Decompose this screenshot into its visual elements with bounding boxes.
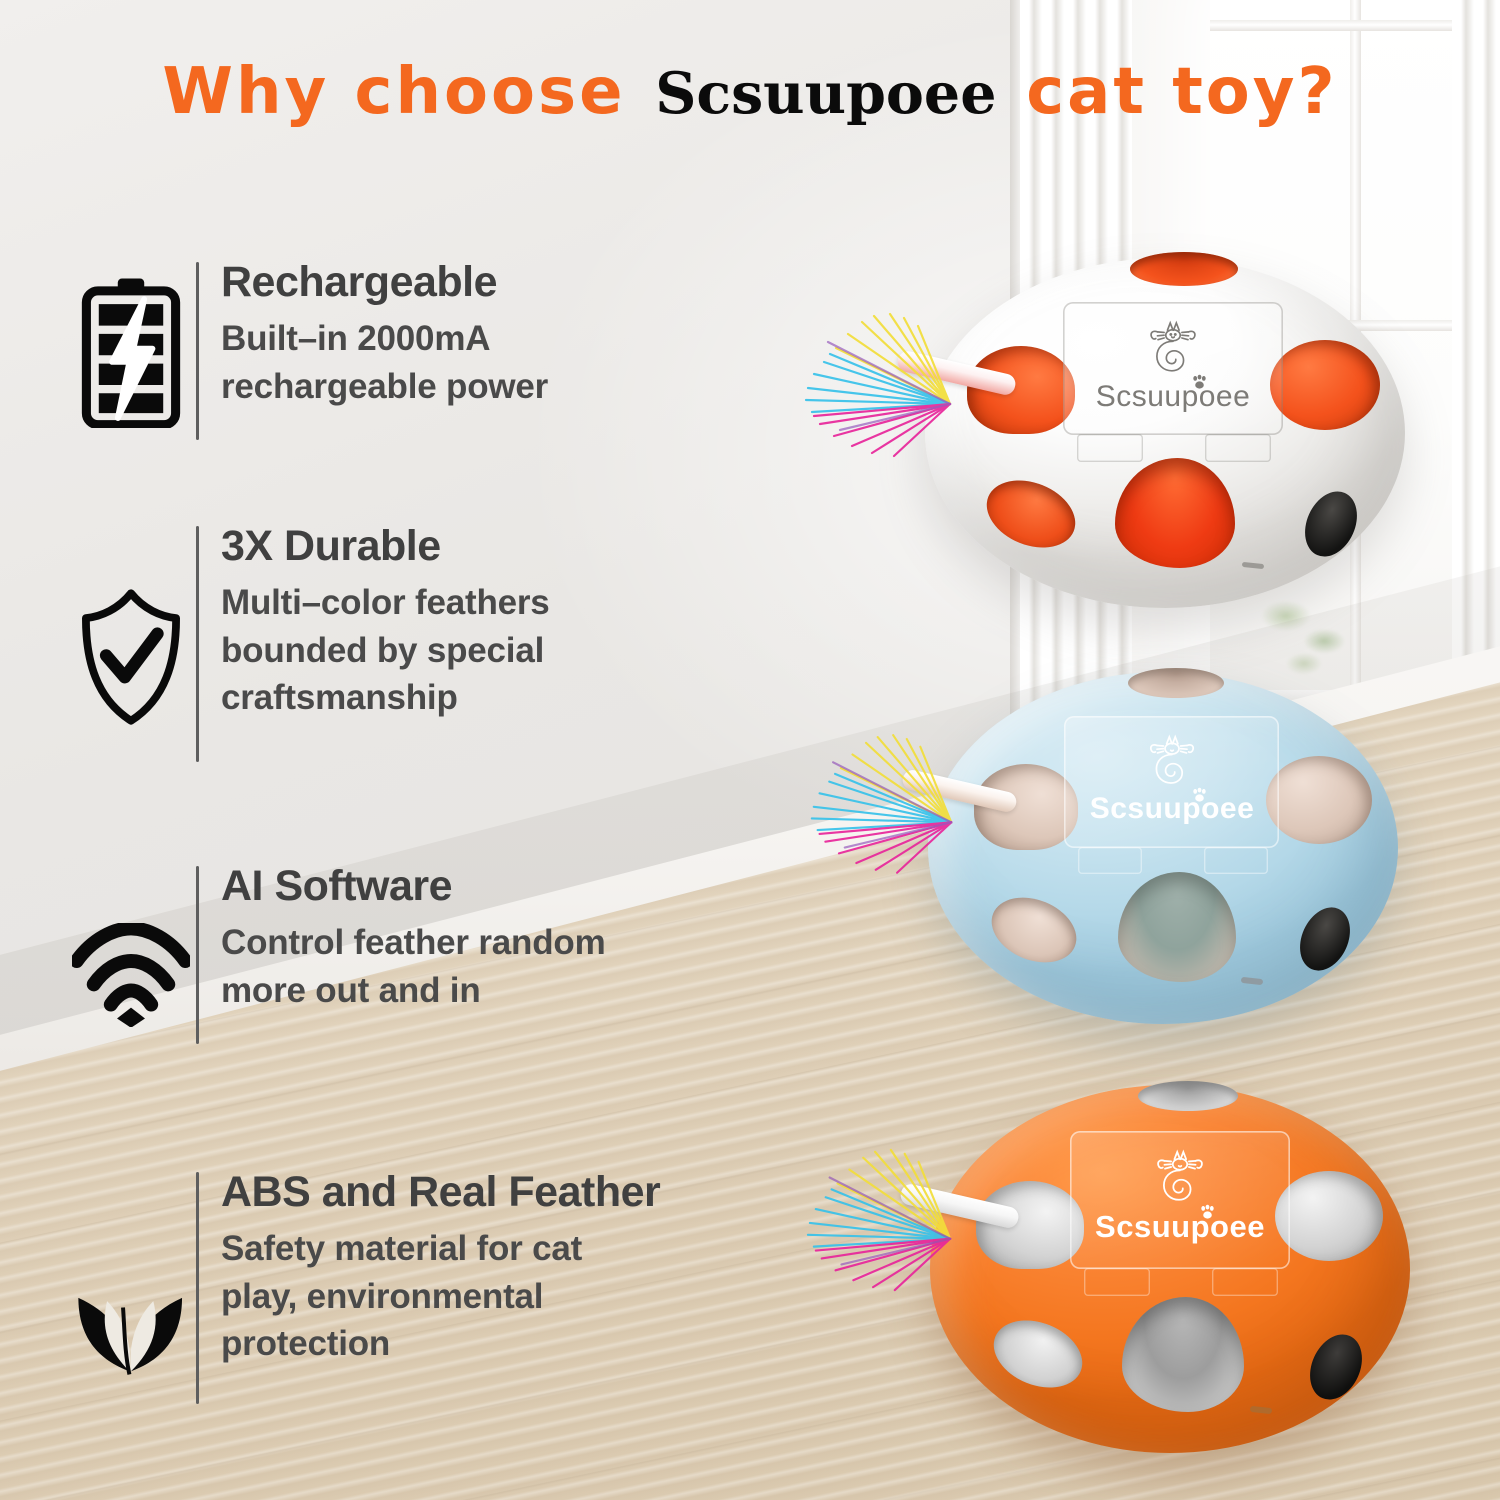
feature-desc-line: Built–in 2000mA xyxy=(221,315,548,362)
feature-description: Control feather random more out and in xyxy=(221,919,606,1014)
toy-hole-right xyxy=(1275,1171,1383,1261)
toy-top-panel xyxy=(1064,716,1279,848)
toy-hole-top xyxy=(1130,252,1238,286)
infographic-canvas: Why choose Scsuupoee cat toy? Rechargeab… xyxy=(0,0,1500,1500)
feature-heading: Rechargeable xyxy=(221,258,548,307)
feature-desc-line: play, environmental xyxy=(221,1273,660,1320)
feather-tuft xyxy=(806,728,961,876)
feature-desc-line: Multi–color feathers xyxy=(221,579,550,626)
feature-abs-real-feather: ABS and Real Feather Safety material for… xyxy=(72,1168,660,1404)
page-title: Why choose Scsuupoee cat toy? xyxy=(0,60,1500,124)
toy-panel-tab-left xyxy=(1077,434,1143,462)
feature-divider-rule xyxy=(196,1172,199,1404)
feature-heading: 3X Durable xyxy=(221,522,550,571)
title-part-two: cat toy? xyxy=(1026,55,1337,129)
feature-desc-line: Safety material for cat xyxy=(221,1225,660,1272)
feather-tuft xyxy=(802,1143,960,1293)
feature-description: Safety material for cat play, environmen… xyxy=(221,1225,660,1367)
feature-divider-rule xyxy=(196,866,199,1044)
toy-hole-top xyxy=(1138,1081,1238,1111)
battery-charging-icon xyxy=(72,276,190,428)
paw-print-icon xyxy=(1199,1204,1216,1221)
title-brand: Scsuupoee xyxy=(655,60,996,127)
toy-hole-right xyxy=(1266,756,1372,844)
feature-heading: ABS and Real Feather xyxy=(221,1168,660,1217)
toy-panel-tab-left xyxy=(1078,847,1142,874)
feature-desc-line: Control feather random xyxy=(221,919,606,966)
feature-description: Multi–color feathers bounded by special … xyxy=(221,579,550,721)
feather-tuft xyxy=(800,308,960,458)
feature-divider-rule xyxy=(196,262,199,440)
toy-hole-left xyxy=(976,1181,1084,1269)
feature-desc-line: bounded by special xyxy=(221,627,550,674)
toy-hole-top xyxy=(1128,668,1224,698)
feature-ai-software: AI Software Control feather random more … xyxy=(72,862,606,1044)
white-cat-toy: Scsuupoee xyxy=(925,258,1405,608)
feature-desc-line: more out and in xyxy=(221,967,606,1014)
title-part-one: Why choose xyxy=(162,55,625,129)
toy-hole-right xyxy=(1270,340,1380,430)
wifi-icon xyxy=(72,923,190,1027)
toy-panel-tab-right xyxy=(1205,434,1271,462)
blue-cat-toy: Scsuupoee xyxy=(928,672,1398,1024)
toy-top-panel xyxy=(1070,1131,1290,1269)
feature-rechargeable: Rechargeable Built–in 2000mA rechargeabl… xyxy=(72,258,548,440)
feature-durable: 3X Durable Multi–color feathers bounded … xyxy=(72,522,550,762)
toy-panel-tab-right xyxy=(1212,1268,1278,1296)
feature-desc-line: protection xyxy=(221,1320,660,1367)
leaf-sprout-icon xyxy=(72,1269,190,1381)
paw-print-icon xyxy=(1191,787,1208,804)
feature-heading: AI Software xyxy=(221,862,606,911)
toy-panel-tab-left xyxy=(1084,1268,1150,1296)
toy-top-panel xyxy=(1063,302,1283,435)
toy-panel-tab-right xyxy=(1204,847,1268,874)
shield-check-icon xyxy=(72,587,190,727)
feature-desc-line: rechargeable power xyxy=(221,363,548,410)
feature-desc-line: craftsmanship xyxy=(221,674,550,721)
feature-divider-rule xyxy=(196,526,199,762)
orange-cat-toy: Scsuupoee xyxy=(930,1085,1410,1453)
feature-description: Built–in 2000mA rechargeable power xyxy=(221,315,548,410)
